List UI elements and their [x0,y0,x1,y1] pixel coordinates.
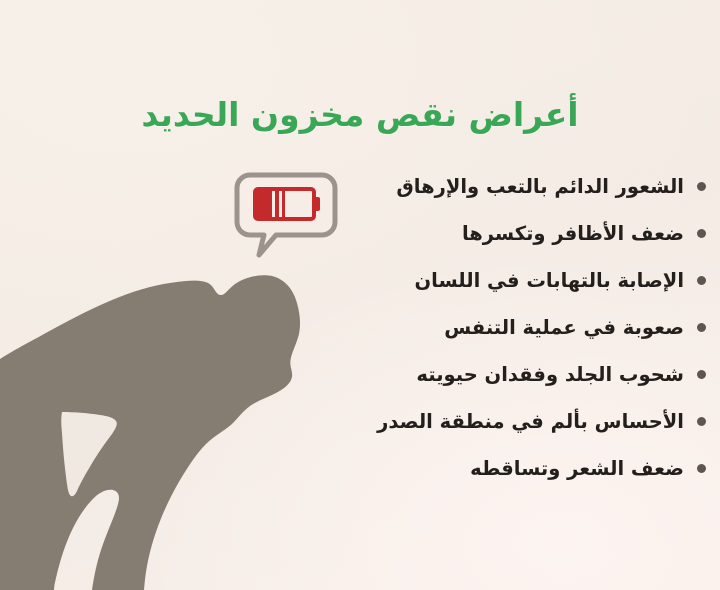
list-item: الإصابة بالتهابات في اللسان [286,257,706,304]
list-item-label: الأحساس بألم في منطقة الصدر [286,410,684,433]
bullet-icon [697,229,706,238]
list-item-label: صعوبة في عملية التنفس [286,316,684,339]
list-item-label: الشعور الدائم بالتعب والإرهاق [286,175,684,198]
bullet-icon [697,370,706,379]
bullet-icon [697,417,706,426]
list-item-label: شحوب الجلد وفقدان حيويته [286,363,684,386]
symptom-list: الشعور الدائم بالتعب والإرهاق ضعف الأظاف… [286,163,706,492]
bullet-icon [697,464,706,473]
list-item: شحوب الجلد وفقدان حيويته [286,351,706,398]
list-item: ضعف الأظافر وتكسرها [286,210,706,257]
infographic-poster: أعراض نقص مخزون الحديد الشعور الدائم بال… [0,0,720,590]
list-item-label: الإصابة بالتهابات في اللسان [286,269,684,292]
list-item-label: ضعف الشعر وتساقطه [286,457,684,480]
list-item-label: ضعف الأظافر وتكسرها [286,222,684,245]
bullet-icon [697,276,706,285]
list-item: الأحساس بألم في منطقة الصدر [286,398,706,445]
list-item: صعوبة في عملية التنفس [286,304,706,351]
page-title: أعراض نقص مخزون الحديد [20,94,700,135]
list-item: ضعف الشعر وتساقطه [286,445,706,492]
list-item: الشعور الدائم بالتعب والإرهاق [286,163,706,210]
bullet-icon [697,182,706,191]
silhouette-body-shape [0,275,300,590]
bullet-icon [697,323,706,332]
